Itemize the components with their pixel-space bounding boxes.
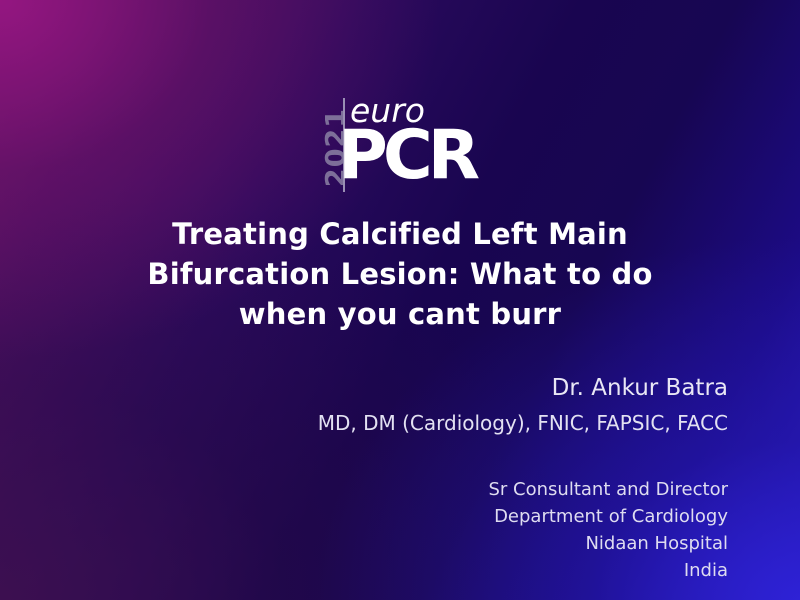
presenter-name: Dr. Ankur Batra [318, 372, 728, 404]
presenter-credentials: MD, DM (Cardiology), FNIC, FAPSIC, FACC [318, 408, 728, 438]
logo-pcr-label: PCR [338, 122, 475, 190]
affiliation-line-department: Department of Cardiology [489, 503, 729, 530]
slide-title: Treating Calcified Left Main Bifurcation… [60, 214, 740, 334]
europcr-logo: 2021 euro PCR [306, 96, 506, 194]
affiliation-line-institution: Nidaan Hospital [489, 530, 729, 557]
affiliation-line-role: Sr Consultant and Director [489, 476, 729, 503]
title-line-1: Treating Calcified Left Main [60, 214, 740, 254]
affiliation-line-country: India [489, 557, 729, 584]
title-line-3: when you cant burr [60, 294, 740, 334]
presenter-block: Dr. Ankur Batra MD, DM (Cardiology), FNI… [318, 372, 728, 438]
title-line-2: Bifurcation Lesion: What to do [60, 254, 740, 294]
presentation-slide: 2021 euro PCR Treating Calcified Left Ma… [0, 0, 800, 600]
affiliation-block: Sr Consultant and Director Department of… [489, 476, 729, 584]
